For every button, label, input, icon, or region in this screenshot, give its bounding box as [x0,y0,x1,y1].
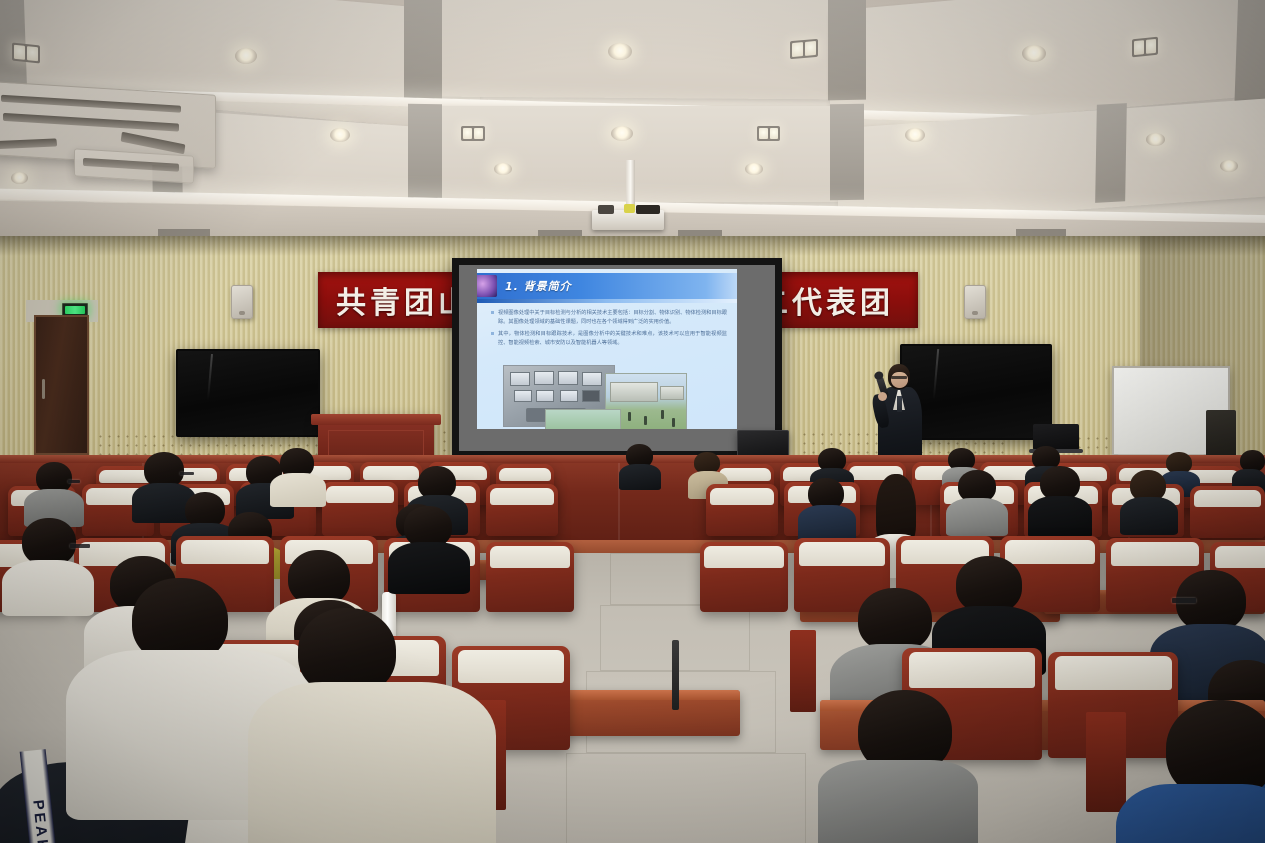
presenter-glasses-icon [891,376,907,379]
seat[interactable] [322,482,398,536]
slide-decoration-icon [477,275,497,297]
downlight [608,43,632,60]
presenter-hand [878,392,887,401]
downlight [1220,160,1238,172]
grille-light [1132,37,1158,58]
jacket-brand-text: PEAK· [29,798,52,843]
slide-title: 1. 背景简介 [505,278,572,294]
downlight [1022,45,1046,62]
seat[interactable] [706,484,778,536]
desk-side-panel [1086,712,1126,812]
seat[interactable] [1190,486,1265,538]
seat[interactable] [486,484,558,536]
grille-light [757,126,780,141]
presentation-slide: 1. 背景简介 视频图像处理中关于目标检测与分析的相关技术主要包括：目标分割、物… [477,269,737,429]
downlight [330,128,350,142]
downlight [235,48,257,64]
downlight [494,163,512,175]
wall-speaker-left [231,285,253,319]
slide-title-bar: 1. 背景简介 [477,273,737,299]
downlight [11,172,28,184]
grille-light [12,43,40,64]
wall-speaker-right [964,285,986,319]
slide-image-field [545,409,621,429]
downlight [905,128,925,142]
lecture-hall-photo: 共青团山东 第二代表团 1. 背景简介 视频图像处理中关于目标检测与分析的相关技… [0,0,1265,843]
slide-paragraph: 其中，物体检测和目标跟踪技术，是图像分析中的关键技术和难点，该技术可以应用于智能… [491,330,727,348]
slide-paragraph: 视频图像处理中关于目标检测与分析的相关技术主要包括：目标分割、物体识别、物体检测… [491,309,727,327]
projector-housing [636,205,660,214]
lectern-top [311,414,441,425]
desk-side-panel [790,630,816,712]
right-wall-tv [900,344,1052,440]
grille-light [461,126,485,141]
seat[interactable] [486,542,574,612]
exit-sign-glow [65,306,85,314]
downlight [1146,133,1165,146]
glasses-icon [1172,598,1196,603]
projector-indicator [624,204,635,213]
grille-light [790,39,818,59]
downlight [611,126,633,141]
exit-door[interactable] [34,315,89,455]
seat-leg [672,640,679,710]
presenter-face [891,372,908,388]
glasses-icon [70,544,90,548]
av-equipment-box [737,430,789,458]
slide-body-text: 视频图像处理中关于目标检测与分析的相关技术主要包括：目标分割、物体识别、物体检测… [491,309,727,351]
slide-title-underline [477,299,737,303]
downlight [745,163,763,175]
door-handle-icon[interactable] [42,379,45,399]
seat[interactable] [700,542,788,612]
projector-lens [598,205,614,214]
presenter-tie [897,396,902,412]
left-wall-tv [176,349,320,437]
wall-top-shadow [0,236,1265,256]
ceiling-projector [592,210,664,230]
projection-screen: 1. 背景简介 视频图像处理中关于目标检测与分析的相关技术主要包括：目标分割、物… [452,258,782,458]
